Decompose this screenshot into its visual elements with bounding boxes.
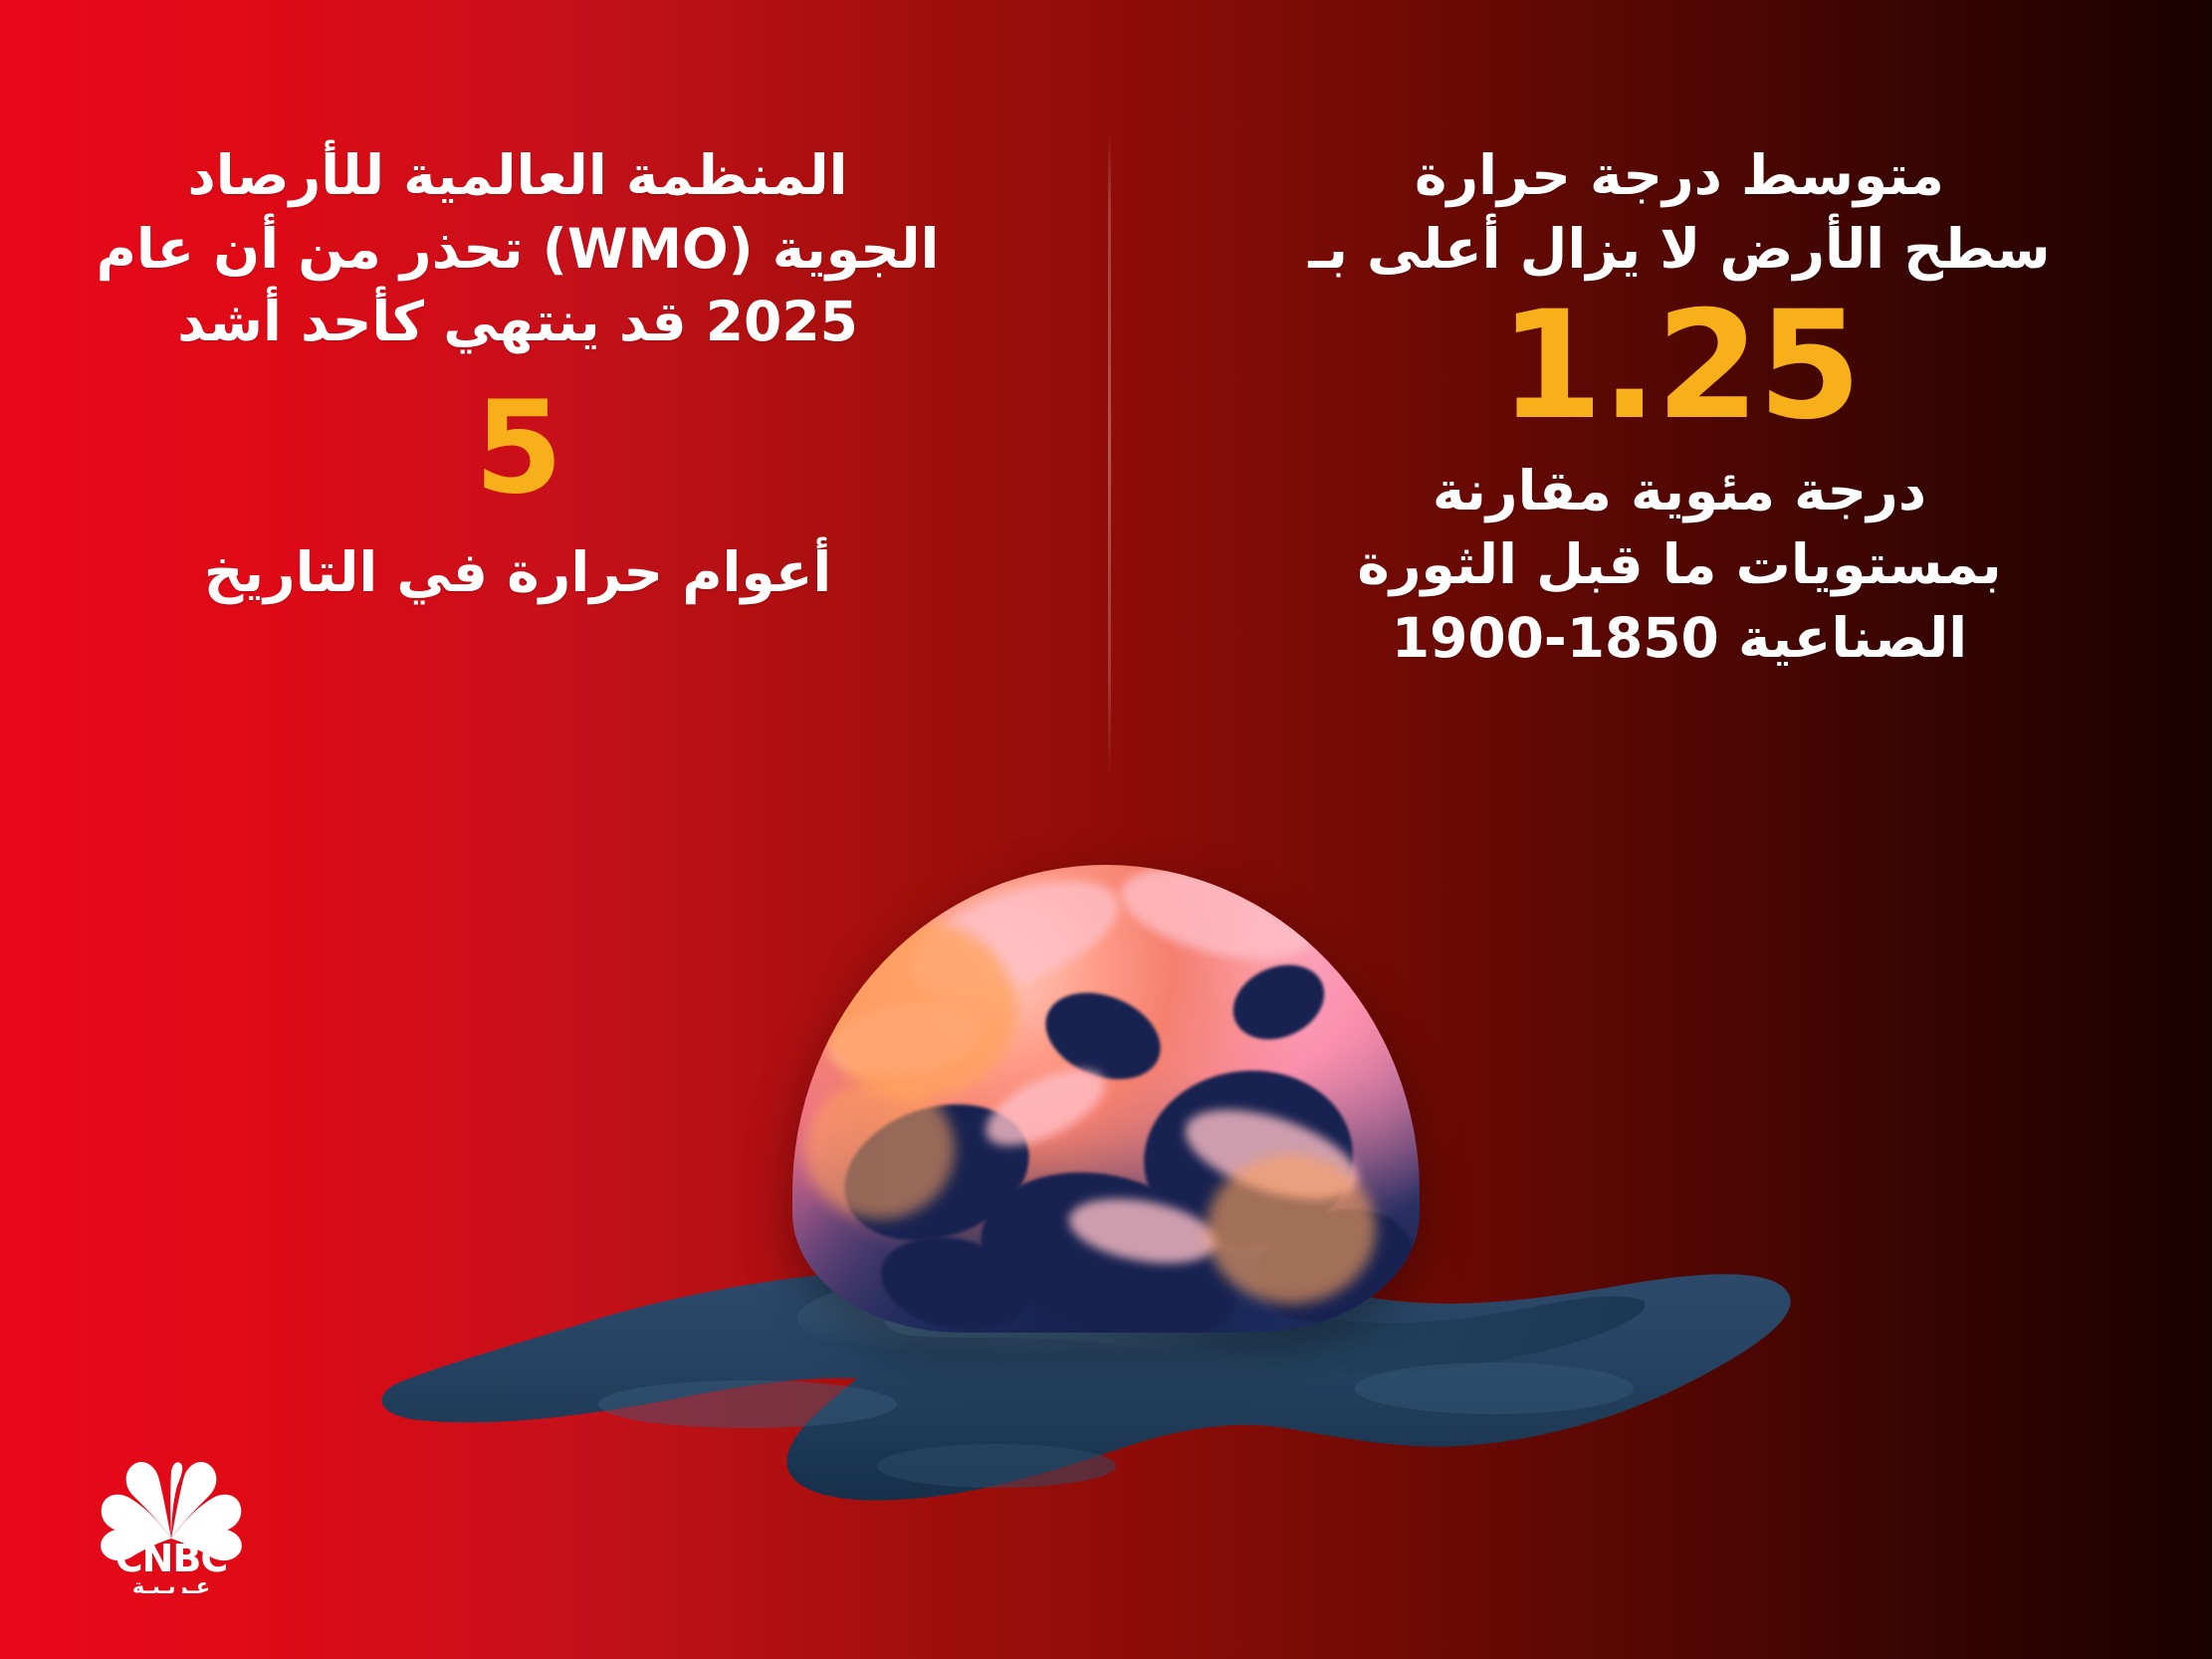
left-text-column: المنظمة العالمية للأرصاد الجوية (WMO) تح… [90, 139, 946, 610]
peacock-icon: CNBC عـربـيـة [72, 1444, 271, 1593]
left-line-4: أعوام حرارة في التاريخ [90, 536, 946, 610]
left-highlight-number: 5 [90, 385, 946, 513]
left-line-3: 2025 قد ينتهي كأحد أشد [90, 286, 946, 359]
melting-earth-globe [359, 851, 1853, 1548]
right-line-1: متوسط درجة حرارة [1241, 139, 2117, 213]
right-line-5: الصناعية 1850-1900 [1241, 602, 2117, 676]
right-line-4: بمستويات ما قبل الثورة [1241, 528, 2117, 602]
left-line-2: الجوية (WMO) تحذر من أن عام [90, 213, 946, 287]
right-text-column: متوسط درجة حرارة سطح الأرض لا يزال أعلى … [1241, 139, 2117, 675]
left-line-1: المنظمة العالمية للأرصاد [90, 139, 946, 213]
cnbc-arabic-wordmark: عـربـيـة [132, 1574, 210, 1593]
right-highlight-number: 1.25 [1241, 292, 2117, 441]
right-line-3: درجة مئوية مقارنة [1241, 455, 2117, 528]
column-divider [1108, 129, 1111, 776]
right-line-2: سطح الأرض لا يزال أعلى بـ [1241, 213, 2117, 287]
infographic-canvas: المنظمة العالمية للأرصاد الجوية (WMO) تح… [0, 0, 2212, 1659]
cnbc-arabia-logo: CNBC عـربـيـة [72, 1444, 271, 1597]
